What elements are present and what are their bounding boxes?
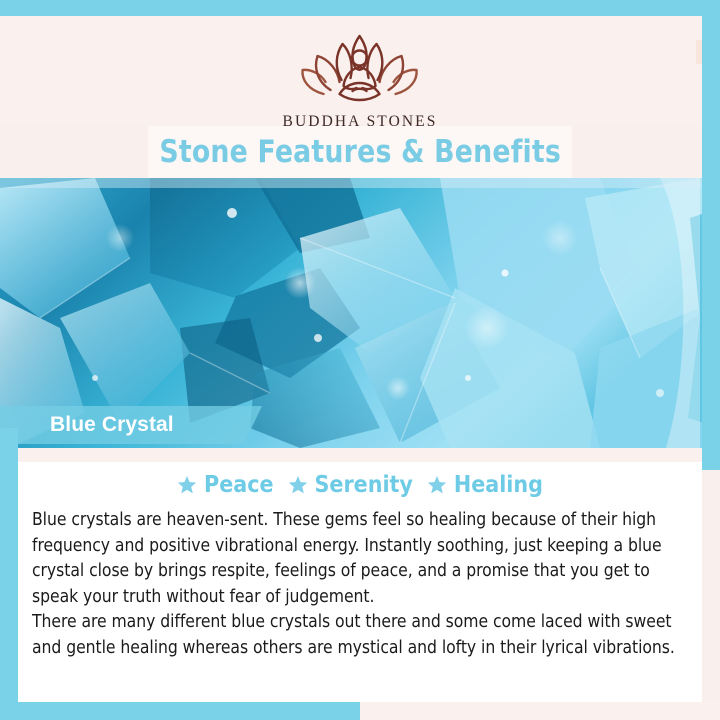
brand-header: BUDDHA STONES xyxy=(0,16,720,126)
page-title: Stone Features & Benefits xyxy=(159,134,561,170)
poster-canvas: BUDDHA STONES Stone Features & Benefits xyxy=(0,0,720,720)
frame-right-bar xyxy=(702,0,720,470)
content-panel: Peace Serenity Healing xyxy=(18,462,702,702)
body-copy: Blue crystals are heaven-sent. These gem… xyxy=(18,502,702,661)
title-banner: Stone Features & Benefits xyxy=(148,126,572,178)
star-icon xyxy=(177,475,197,495)
paragraph-1: Blue crystals are heaven-sent. These gem… xyxy=(32,508,688,610)
brand-logo: BUDDHA STONES xyxy=(283,28,438,131)
frame-left-bar xyxy=(0,428,18,720)
frame-top-bar xyxy=(0,0,720,16)
keyword-peace: Peace xyxy=(177,472,273,498)
keyword-serenity: Serenity xyxy=(288,472,413,498)
frame-right-inner-notch xyxy=(696,40,702,64)
keyword-label: Healing xyxy=(454,472,543,498)
cream-separator xyxy=(18,448,702,462)
keyword-label: Serenity xyxy=(315,472,413,498)
photo-caption: Blue Crystal xyxy=(0,406,174,444)
caption-label: Blue Crystal xyxy=(0,413,174,437)
frame-bottom-bar xyxy=(0,702,360,720)
bottom-cream-gutter xyxy=(360,702,720,720)
keyword-row: Peace Serenity Healing xyxy=(18,462,702,502)
lotus-meditation-icon xyxy=(283,28,438,111)
star-icon xyxy=(427,475,447,495)
star-icon xyxy=(288,475,308,495)
paragraph-2: There are many different blue crystals o… xyxy=(32,610,688,661)
keyword-label: Peace xyxy=(204,472,273,498)
keyword-healing: Healing xyxy=(427,472,543,498)
